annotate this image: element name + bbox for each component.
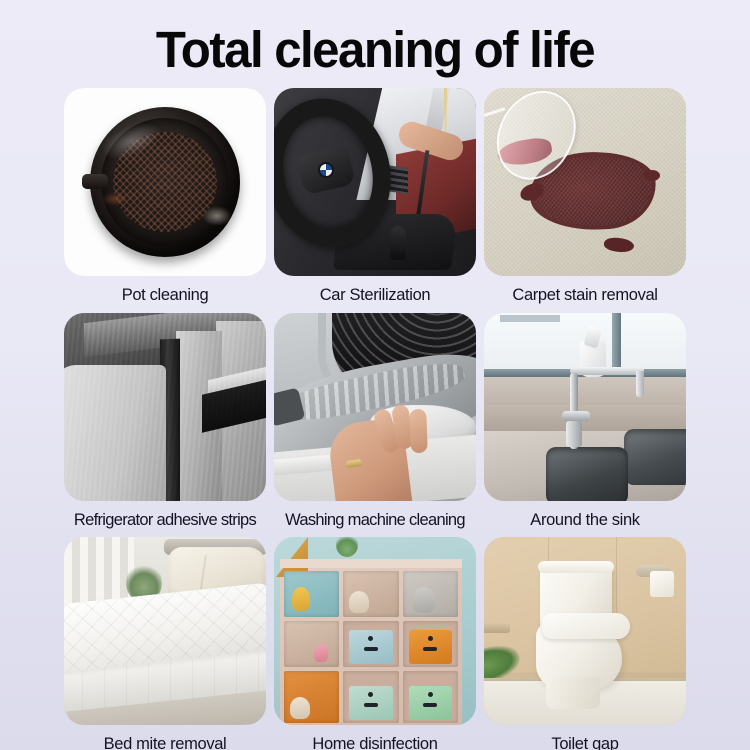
feature-cell-car-sterilization[interactable]: Car Sterilization xyxy=(274,88,476,313)
feature-label: Bed mite removal xyxy=(104,725,227,750)
feature-cell-toilet-gap[interactable]: Toilet gap xyxy=(484,537,686,750)
feature-label: Car Sterilization xyxy=(320,276,431,313)
feature-image-carpet-stain-removal xyxy=(484,88,686,276)
feature-image-around-the-sink xyxy=(484,313,686,501)
feature-image-refrigerator-adhesive-strips xyxy=(64,313,266,501)
feature-image-home-disinfection xyxy=(274,537,476,725)
feature-grid: Pot cleaning Car Sterilization xyxy=(64,88,686,750)
feature-label: Washing machine cleaning xyxy=(285,501,465,538)
feature-cell-around-the-sink[interactable]: Around the sink xyxy=(484,313,686,538)
feature-label: Refrigerator adhesive strips xyxy=(74,501,256,538)
feature-cell-carpet-stain-removal[interactable]: Carpet stain removal xyxy=(484,88,686,313)
feature-label: Carpet stain removal xyxy=(512,276,657,313)
feature-cell-bed-mite-removal[interactable]: Bed mite removal xyxy=(64,537,266,750)
feature-cell-washing-machine-cleaning[interactable]: Washing machine cleaning xyxy=(274,313,476,538)
feature-label: Toilet gap xyxy=(551,725,618,750)
feature-image-car-sterilization xyxy=(274,88,476,276)
feature-image-pot-cleaning xyxy=(64,88,266,276)
feature-image-bed-mite-removal xyxy=(64,537,266,725)
feature-cell-pot-cleaning[interactable]: Pot cleaning xyxy=(64,88,266,313)
feature-label: Around the sink xyxy=(530,501,639,538)
feature-label: Home disinfection xyxy=(312,725,437,750)
page-title: Total cleaning of life xyxy=(13,0,737,75)
feature-label: Pot cleaning xyxy=(122,276,209,313)
feature-cell-home-disinfection[interactable]: Home disinfection xyxy=(274,537,476,750)
feature-cell-refrigerator-adhesive-strips[interactable]: Refrigerator adhesive strips xyxy=(64,313,266,538)
feature-image-washing-machine-cleaning xyxy=(274,313,476,501)
feature-image-toilet-gap xyxy=(484,537,686,725)
